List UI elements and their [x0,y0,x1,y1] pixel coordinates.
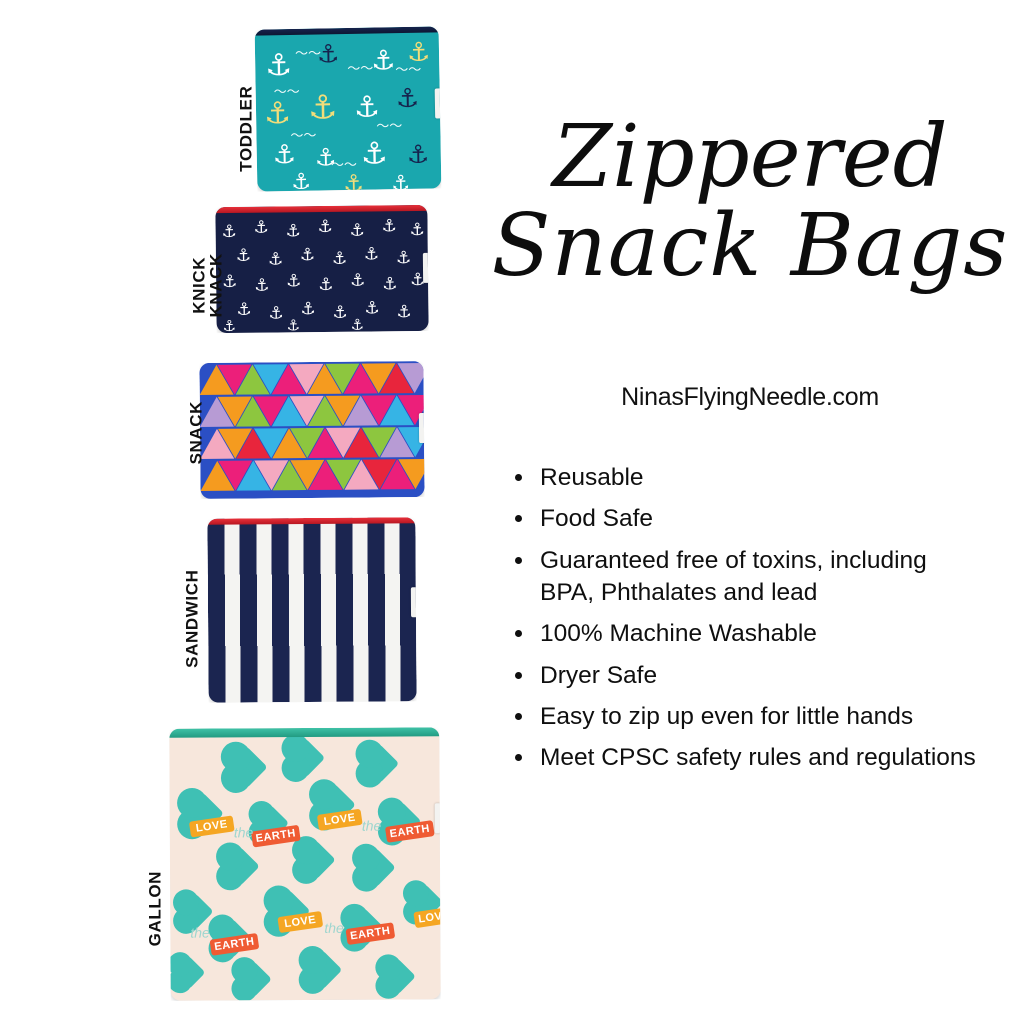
bag-body-snack [199,361,424,499]
list-item: Easy to zip up even for little hands [536,701,982,733]
the-word: the [362,818,382,834]
infographic-canvas: ⚓ ⚓ ⚓ ⚓ ⚓ ⚓ ⚓ ⚓ ⚓ ⚓ ⚓ ⚓ ⚓ ⚓ ⚓ 〜〜 〜〜 〜〜 〜… [0,0,1024,1024]
bag-body-knick-knack: ⚓ ⚓ ⚓ ⚓ ⚓ ⚓ ⚓ ⚓ ⚓ ⚓ ⚓ ⚓ ⚓ ⚓ ⚓ ⚓ ⚓ ⚓ ⚓ ⚓ [215,205,428,333]
features-ul: Reusable Food Safe Guaranteed free of to… [512,462,982,775]
brand-tag-knick-knack [423,253,429,283]
brand-tag-sandwich [411,587,417,617]
website-url[interactable]: NinasFlyingNeedle.com [480,383,1020,412]
product-image-sandwich [207,517,416,702]
bag-body-toddler: ⚓ ⚓ ⚓ ⚓ ⚓ ⚓ ⚓ ⚓ ⚓ ⚓ ⚓ ⚓ ⚓ ⚓ ⚓ 〜〜 〜〜 〜〜 〜… [255,26,442,191]
size-label-sandwich: SANDWICH [183,559,200,679]
list-item: Reusable [536,462,982,494]
size-label-knick-knack: KNICK KNACK [191,225,226,345]
anchor-pattern-knick-knack: ⚓ ⚓ ⚓ ⚓ ⚓ ⚓ ⚓ ⚓ ⚓ ⚓ ⚓ ⚓ ⚓ ⚓ ⚓ ⚓ ⚓ ⚓ ⚓ ⚓ [215,205,428,333]
list-item: Dryer Safe [536,660,982,692]
size-label-snack: SNACK [187,383,204,483]
brand-tag-toddler [435,88,442,118]
heart-pattern-gallon: LOVE EARTH LOVE EARTH LOVE EARTH EARTH L… [169,727,440,1000]
the-word: the [324,920,344,936]
list-item: 100% Machine Washable [536,618,982,650]
bag-body-sandwich [207,517,416,702]
page-title: Zippered Snack Bags [480,116,1020,287]
title-line-1: Zippered [552,107,947,207]
list-item: Guaranteed free of toxins, including BPA… [536,545,982,610]
size-label-toddler: TODDLER [237,79,254,179]
features-list: Reusable Food Safe Guaranteed free of to… [512,462,982,784]
brand-tag-snack [419,413,425,443]
brand-tag-gallon [435,803,441,833]
product-image-snack [199,361,424,499]
title-line-2: Snack Bags [480,205,1020,288]
product-image-gallon: LOVE EARTH LOVE EARTH LOVE EARTH EARTH L… [169,727,440,1000]
list-item: Food Safe [536,503,982,535]
anchor-pattern-toddler: ⚓ ⚓ ⚓ ⚓ ⚓ ⚓ ⚓ ⚓ ⚓ ⚓ ⚓ ⚓ ⚓ ⚓ ⚓ 〜〜 〜〜 〜〜 〜… [255,26,442,191]
list-item: Meet CPSC safety rules and regulations [536,742,982,774]
the-word: the [190,924,210,940]
the-word: the [234,824,254,840]
product-image-toddler: ⚓ ⚓ ⚓ ⚓ ⚓ ⚓ ⚓ ⚓ ⚓ ⚓ ⚓ ⚓ ⚓ ⚓ ⚓ 〜〜 〜〜 〜〜 〜… [255,26,442,191]
size-label-gallon: GALLON [146,854,163,964]
product-image-knick-knack: ⚓ ⚓ ⚓ ⚓ ⚓ ⚓ ⚓ ⚓ ⚓ ⚓ ⚓ ⚓ ⚓ ⚓ ⚓ ⚓ ⚓ ⚓ ⚓ ⚓ [215,205,428,333]
triangle-pattern-snack [199,361,424,499]
stripe-pattern-sandwich [207,517,416,702]
zipper-gallon [169,727,439,737]
bag-body-gallon: LOVE EARTH LOVE EARTH LOVE EARTH EARTH L… [169,727,440,1000]
